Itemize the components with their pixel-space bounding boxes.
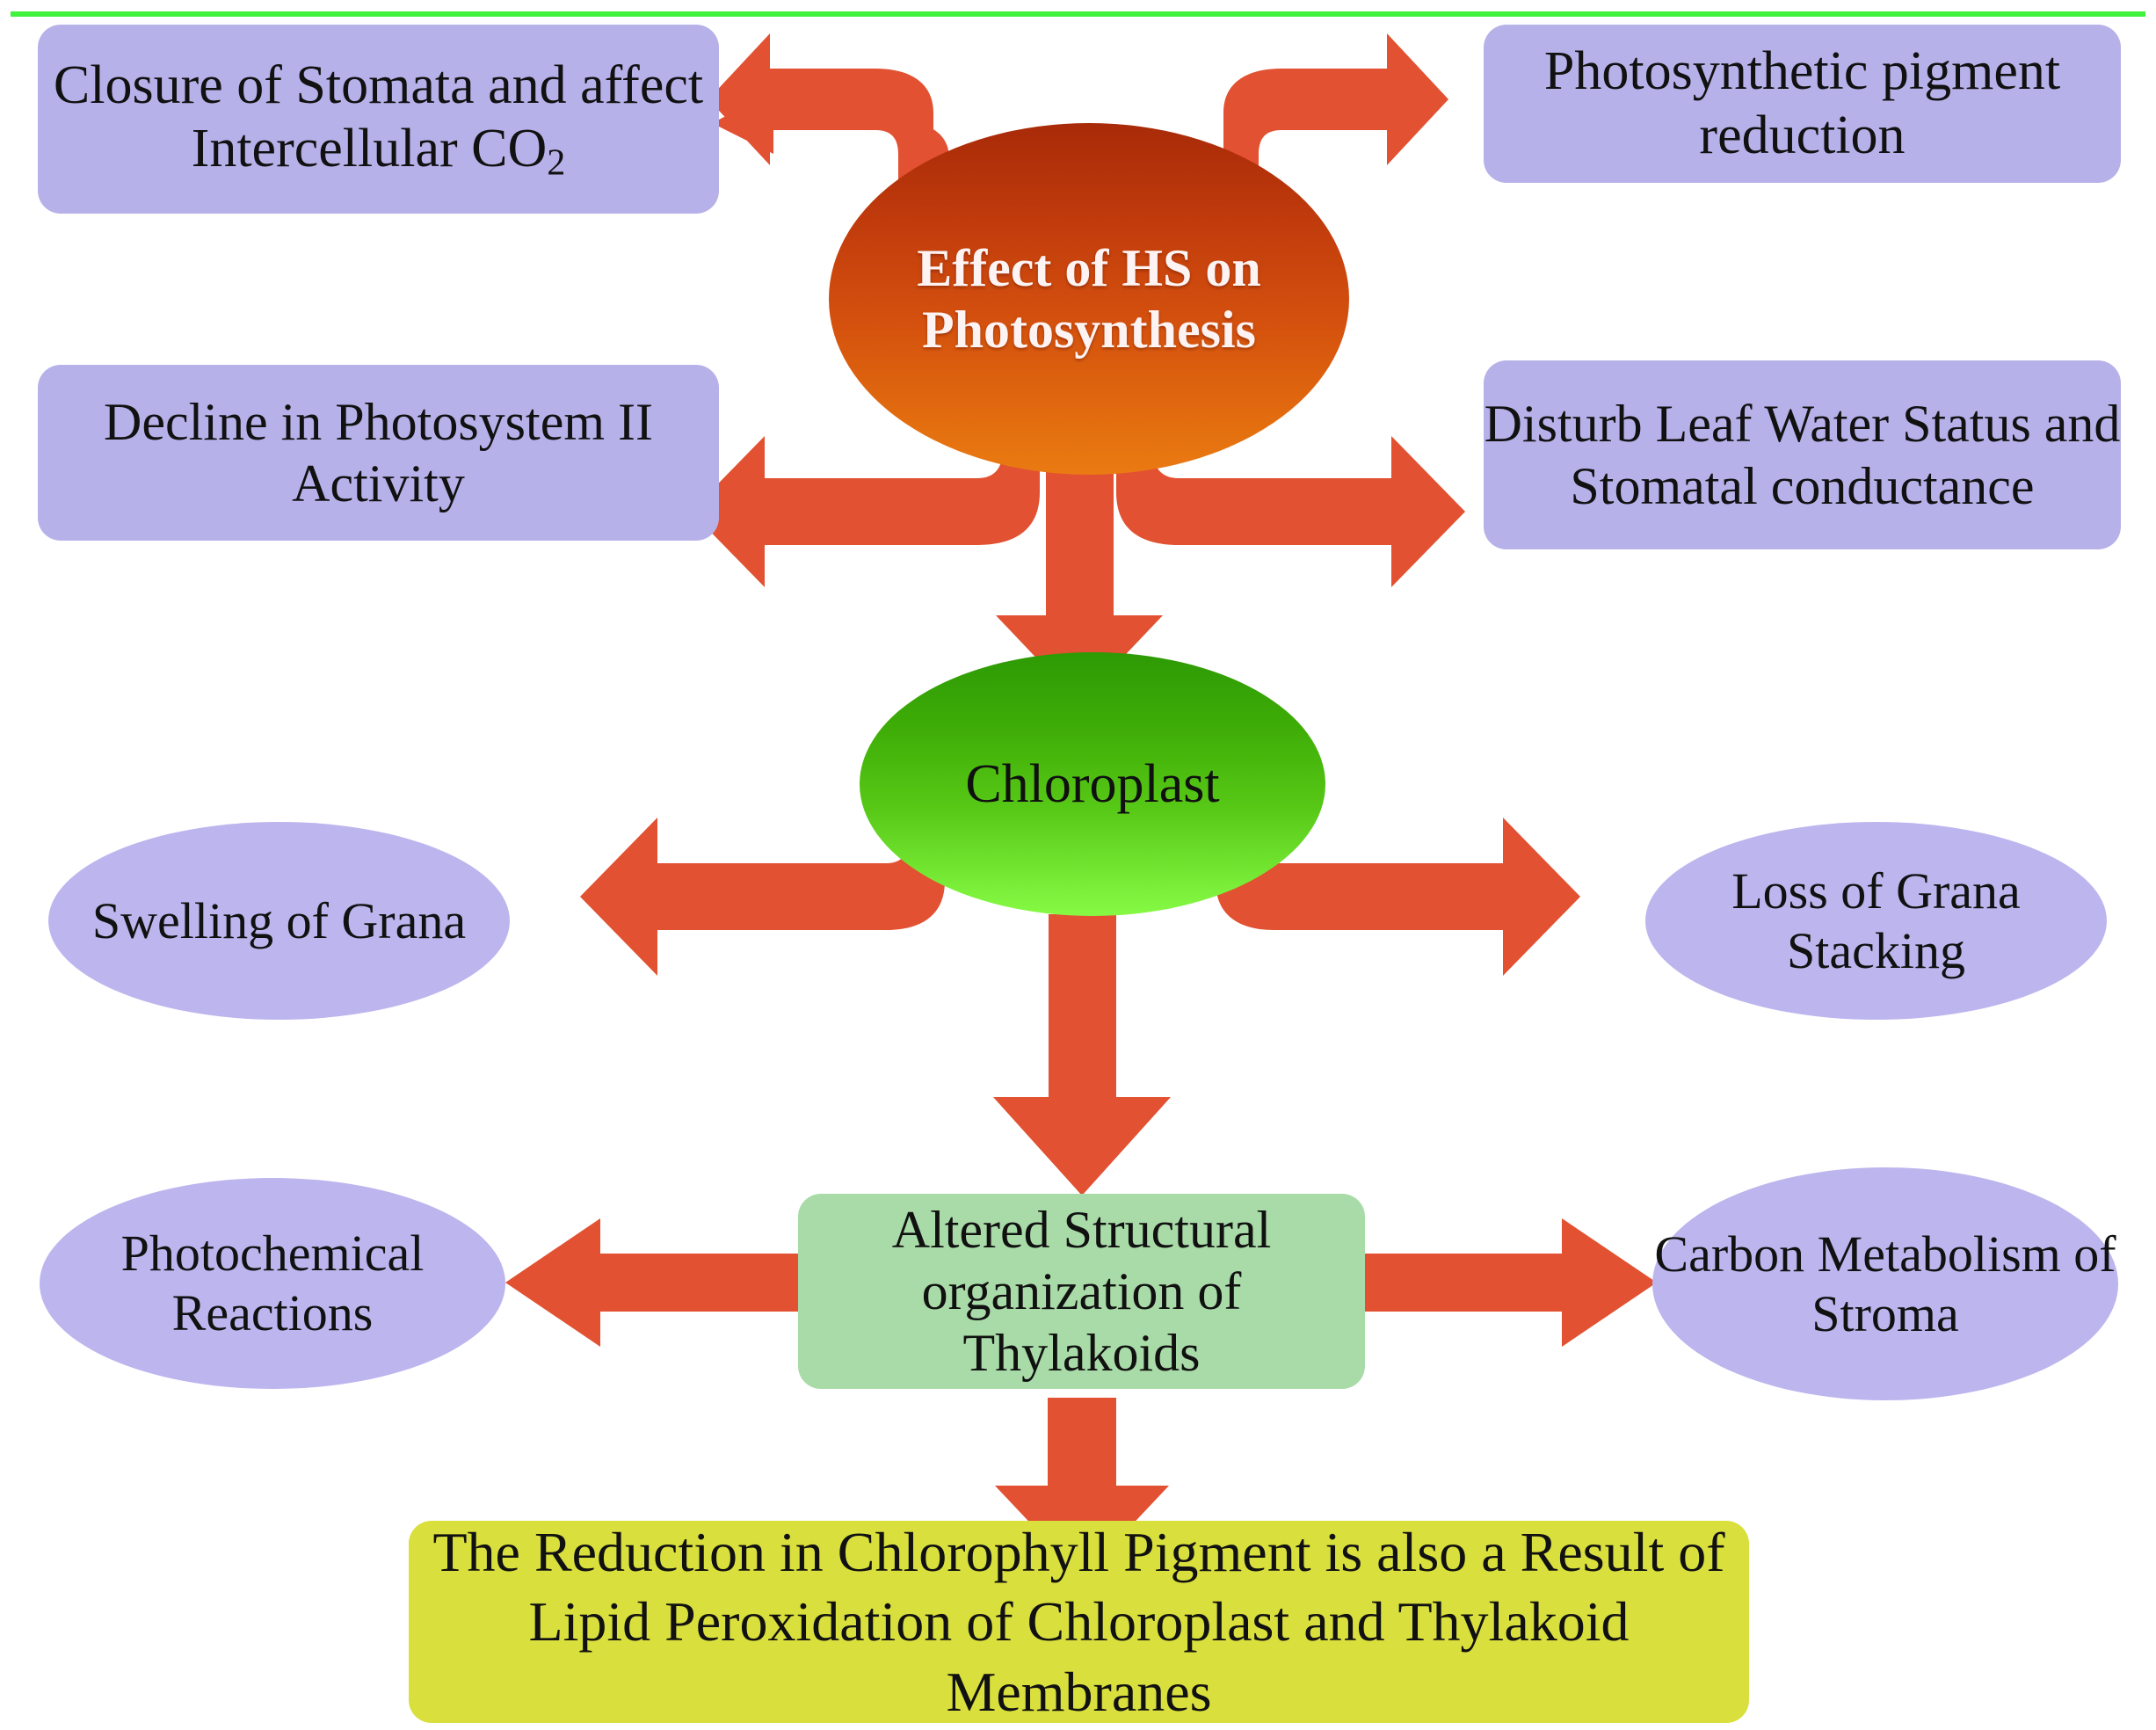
- node-decline-in-photosystem-ii[interactable]: Decline in Photosystem II Activity: [38, 365, 719, 541]
- node-effect-of-hs-label: Effect of HS on Photosynthesis: [829, 237, 1349, 360]
- node-photosynthetic-pigment-reduction[interactable]: Photosynthetic pigment reduction: [1484, 25, 2121, 183]
- node-chloroplast-label: Chloroplast: [860, 752, 1325, 817]
- node-carbon-metabolism-of-stroma-label: Carbon Metabolism of Stroma: [1652, 1225, 2118, 1344]
- node-closure-of-stomata[interactable]: Closure of Stomata and affect Intercellu…: [38, 25, 719, 214]
- node-photochemical-reactions[interactable]: Photochemical Reactions: [40, 1178, 505, 1389]
- arrow-thylakoids-to-left-shape: [505, 1218, 798, 1347]
- node-closure-of-stomata-label: Closure of Stomata and affect Intercellu…: [38, 54, 719, 185]
- node-reduction-in-chlorophyll-pigment[interactable]: The Reduction in Chlorophyll Pigment is …: [409, 1521, 1749, 1723]
- node-altered-structural-organization-thylakoids[interactable]: Altered Structural organization of Thyla…: [798, 1194, 1365, 1389]
- node-reduction-in-chlorophyll-pigment-label: The Reduction in Chlorophyll Pigment is …: [409, 1517, 1749, 1726]
- node-chloroplast[interactable]: Chloroplast: [860, 652, 1325, 916]
- node-altered-structural-organization-label: Altered Structural organization of Thyla…: [798, 1199, 1365, 1385]
- node-photochemical-reactions-label: Photochemical Reactions: [40, 1224, 505, 1343]
- node-disturb-leaf-water-status[interactable]: Disturb Leaf Water Status and Stomatal c…: [1484, 360, 2121, 549]
- node-carbon-metabolism-of-stroma[interactable]: Carbon Metabolism of Stroma: [1652, 1167, 2118, 1400]
- node-loss-of-grana-stacking[interactable]: Loss of Grana Stacking: [1645, 822, 2107, 1020]
- node-swelling-of-grana[interactable]: Swelling of Grana: [48, 822, 510, 1020]
- node-swelling-of-grana-label: Swelling of Grana: [48, 891, 510, 951]
- arrow-thylakoids-to-right: [1364, 1218, 1657, 1347]
- diagram-canvas: Closure of Stomata and affect Intercellu…: [0, 0, 2156, 1730]
- node-loss-of-grana-stacking-label: Loss of Grana Stacking: [1645, 861, 2107, 981]
- arrow-chloroplast-to-thylakoids: [993, 914, 1171, 1196]
- node-photosynthetic-pigment-reduction-label: Photosynthetic pigment reduction: [1484, 40, 2121, 167]
- node-effect-of-hs-on-photosynthesis[interactable]: Effect of HS on Photosynthesis: [829, 123, 1349, 475]
- node-disturb-leaf-water-status-label: Disturb Leaf Water Status and Stomatal c…: [1484, 393, 2121, 516]
- node-decline-in-photosystem-ii-label: Decline in Photosystem II Activity: [38, 391, 719, 514]
- top-green-rule: [11, 11, 2145, 17]
